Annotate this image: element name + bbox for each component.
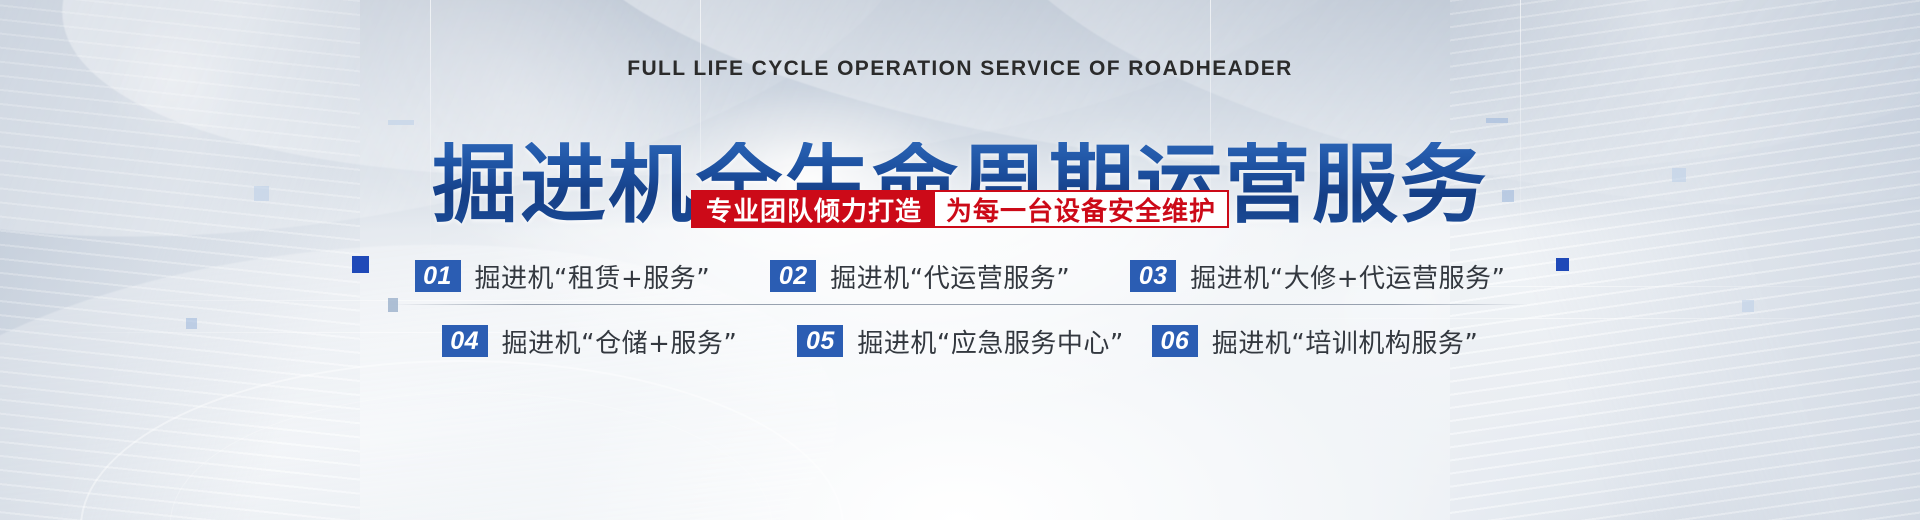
service-item-03[interactable]: 03 掘进机“大修+代运营服务” (1130, 258, 1505, 295)
service-item-02[interactable]: 02 掘进机“代运营服务” (770, 258, 1070, 295)
service-label: 掘进机“代运营服务” (830, 258, 1070, 295)
service-divider-wrap (0, 304, 1920, 305)
service-row-bottom: 04 掘进机“仓储+服务” 05 掘进机“应急服务中心” 06 掘进机“培训机构… (0, 313, 1920, 369)
tagline-ribbon: 专业团队倾力打造 为每一台设备安全维护 (0, 190, 1920, 228)
service-label: 掘进机“仓储+服务” (502, 323, 738, 360)
english-subtitle: FULL LIFE CYCLE OPERATION SERVICE OF ROA… (0, 57, 1920, 81)
tagline-primary: 专业团队倾力打造 (693, 192, 935, 226)
service-row-top: 01 掘进机“租赁+服务” 02 掘进机“代运营服务” 03 掘进机“大修+代运… (0, 248, 1920, 304)
service-number-badge: 05 (797, 325, 843, 357)
service-number-badge: 01 (415, 260, 461, 292)
service-number-badge: 06 (1152, 325, 1198, 357)
service-label: 掘进机“大修+代运营服务” (1190, 258, 1505, 295)
service-number-badge: 03 (1130, 260, 1176, 292)
service-item-05[interactable]: 05 掘进机“应急服务中心” (797, 323, 1123, 360)
service-item-04[interactable]: 04 掘进机“仓储+服务” (442, 323, 738, 360)
banner-content: FULL LIFE CYCLE OPERATION SERVICE OF ROA… (0, 0, 1920, 520)
service-item-06[interactable]: 06 掘进机“培训机构服务” (1152, 323, 1478, 360)
tagline-ribbon-inner: 专业团队倾力打造 为每一台设备安全维护 (691, 190, 1229, 228)
service-number-badge: 02 (770, 260, 816, 292)
service-list: 01 掘进机“租赁+服务” 02 掘进机“代运营服务” 03 掘进机“大修+代运… (0, 248, 1920, 369)
service-label: 掘进机“应急服务中心” (857, 323, 1123, 360)
tagline-secondary: 为每一台设备安全维护 (935, 192, 1227, 226)
divider-accent-cap (388, 298, 398, 312)
service-number-badge: 04 (442, 325, 488, 357)
service-divider (390, 304, 1530, 305)
service-label: 掘进机“培训机构服务” (1212, 323, 1478, 360)
service-item-01[interactable]: 01 掘进机“租赁+服务” (415, 258, 711, 295)
service-label: 掘进机“租赁+服务” (475, 258, 711, 295)
promo-banner: FULL LIFE CYCLE OPERATION SERVICE OF ROA… (0, 0, 1920, 520)
